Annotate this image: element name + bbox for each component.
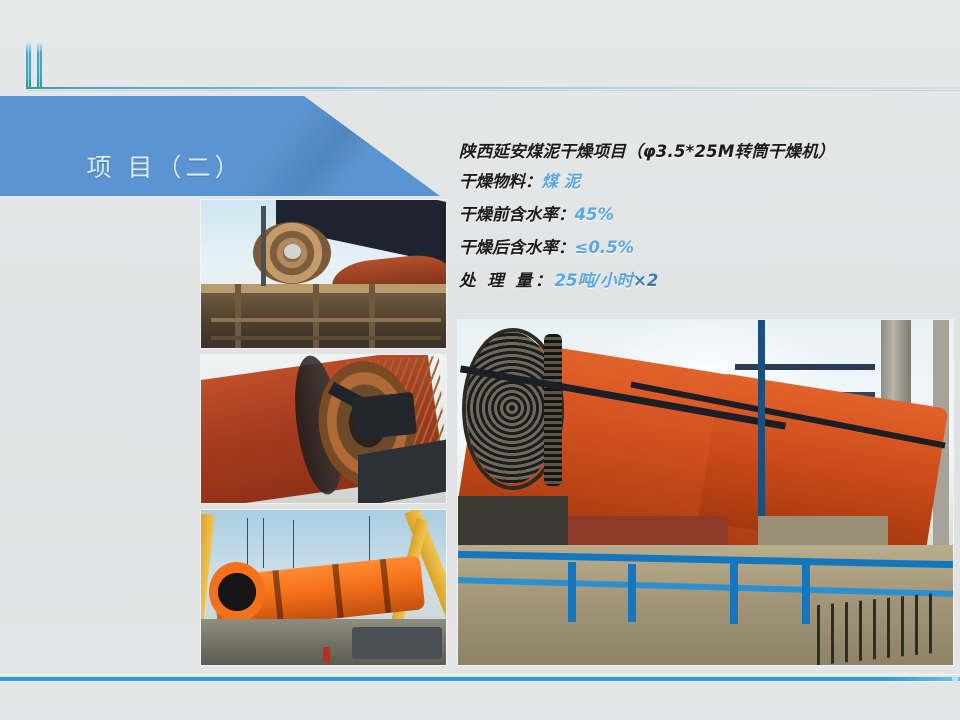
spec-value-moisture-after: ≤0.5% <box>575 238 635 257</box>
photo-drum-lifting <box>201 510 446 665</box>
photo-installed-dryer <box>458 320 953 665</box>
spec-label-capacity: 处 理 量： <box>459 271 555 290</box>
spec-title: 陕西延安煤泥干燥项目（φ3.5*25M转筒干燥机） <box>459 138 954 165</box>
spec-row-moisture-after: 干燥后含水率：≤0.5% <box>459 231 954 264</box>
spec-value-capacity: 25吨/小时 <box>555 271 634 290</box>
spec-row-capacity: 处 理 量：25吨/小时×2 <box>459 264 954 297</box>
bottom-rule-endcap <box>952 676 958 682</box>
spec-value-capacity-suffix: ×2 <box>633 271 658 290</box>
double-bar-mark-icon <box>26 43 48 89</box>
spec-label-material: 干燥物料： <box>459 172 542 191</box>
spec-value-material: 煤 泥 <box>542 172 581 191</box>
spec-label-moisture-before: 干燥前含水率： <box>459 205 575 224</box>
spec-row-material: 干燥物料：煤 泥 <box>459 165 954 198</box>
photo-kiln-head <box>201 200 446 348</box>
page-title: 项 目（二） <box>0 96 330 196</box>
spec-block: 陕西延安煤泥干燥项目（φ3.5*25M转筒干燥机） 干燥物料：煤 泥 干燥前含水… <box>459 138 954 297</box>
slide: 项 目（二） 陕西延安煤泥干燥项目（φ3.5*25M转筒干燥机） 干燥物料：煤 … <box>0 0 960 720</box>
bottom-rule-shadow <box>0 681 960 682</box>
bottom-rule-highlight <box>0 674 960 675</box>
top-rule-shadow <box>27 90 960 91</box>
spec-row-moisture-before: 干燥前含水率：45% <box>459 198 954 231</box>
spec-label-moisture-after: 干燥后含水率： <box>459 238 575 257</box>
photo-drum-gear-drive <box>201 355 446 503</box>
spec-value-moisture-before: 45% <box>575 205 615 224</box>
